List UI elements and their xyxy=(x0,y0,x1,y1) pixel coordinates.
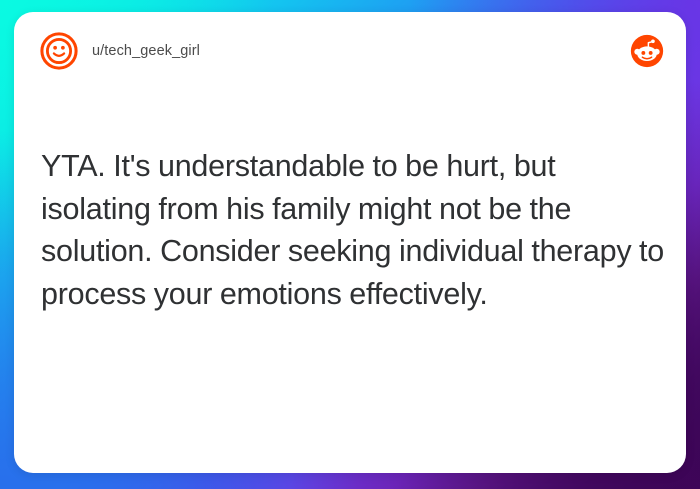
smiley-face-avatar-icon[interactable] xyxy=(40,32,78,70)
username-label[interactable]: u/tech_geek_girl xyxy=(92,43,200,59)
reddit-snoo-icon[interactable] xyxy=(630,34,664,68)
comment-text: YTA. It's understandable to be hurt, but… xyxy=(41,145,666,315)
card-header: u/tech_geek_girl xyxy=(14,12,686,90)
comment-card: u/tech_geek_girl YTA. It's understandabl… xyxy=(14,12,686,473)
